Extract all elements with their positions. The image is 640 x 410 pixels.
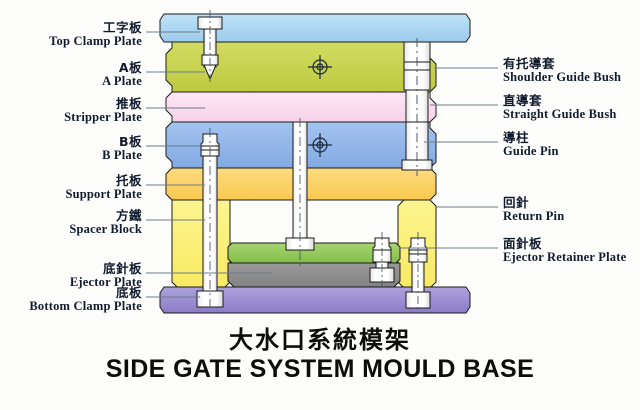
label-shoulder-guide-bush-en: Shoulder Guide Bush	[503, 71, 640, 85]
label-a-plate: A板 A Plate	[0, 61, 142, 88]
label-spacer-block-cn: 方鐵	[0, 209, 142, 223]
label-guide-pin: 導柱 Guide Pin	[503, 131, 640, 158]
label-guide-pin-cn: 導柱	[503, 131, 640, 145]
label-ejector-plate-cn: 底針板	[0, 262, 142, 276]
label-b-plate-en: B Plate	[0, 149, 142, 163]
plate-stripper	[166, 92, 436, 122]
label-return-pin: 回針 Return Pin	[503, 196, 640, 223]
label-bottom-clamp-plate: 底板 Bottom Clamp Plate	[0, 286, 142, 313]
title-block: 大水口系統模架 SIDE GATE SYSTEM MOULD BASE	[0, 320, 640, 384]
label-spacer-block-en: Spacer Block	[0, 223, 142, 237]
label-stripper-plate-en: Stripper Plate	[0, 111, 142, 125]
label-guide-pin-en: Guide Pin	[503, 145, 640, 159]
label-top-clamp-plate-en: Top Clamp Plate	[0, 35, 142, 49]
label-support-plate-cn: 托板	[0, 174, 142, 188]
label-return-pin-en: Return Pin	[503, 210, 640, 224]
label-shoulder-guide-bush-cn: 有托導套	[503, 57, 640, 71]
label-straight-guide-bush: 直導套 Straight Guide Bush	[503, 94, 640, 121]
label-bottom-clamp-plate-en: Bottom Clamp Plate	[0, 300, 142, 314]
label-b-plate-cn: B板	[0, 135, 142, 149]
label-stripper-plate: 推板 Stripper Plate	[0, 97, 142, 124]
label-ejector-retainer-plate-en: Ejector Retainer Plate	[503, 251, 640, 265]
title-chinese: 大水口系統模架	[0, 320, 640, 355]
title-english: SIDE GATE SYSTEM MOULD BASE	[0, 355, 640, 384]
label-top-clamp-plate-cn: 工字板	[0, 21, 142, 35]
label-straight-guide-bush-cn: 直導套	[503, 94, 640, 108]
label-b-plate: B板 B Plate	[0, 135, 142, 162]
label-bottom-clamp-plate-cn: 底板	[0, 286, 142, 300]
label-a-plate-en: A Plate	[0, 75, 142, 89]
label-return-pin-cn: 回針	[503, 196, 640, 210]
label-shoulder-guide-bush: 有托導套 Shoulder Guide Bush	[503, 57, 640, 84]
label-support-plate: 托板 Support Plate	[0, 174, 142, 201]
label-straight-guide-bush-en: Straight Guide Bush	[503, 108, 640, 122]
label-spacer-block: 方鐵 Spacer Block	[0, 209, 142, 236]
spacer-block-left	[172, 200, 230, 288]
label-top-clamp-plate: 工字板 Top Clamp Plate	[0, 21, 142, 48]
label-support-plate-en: Support Plate	[0, 188, 142, 202]
label-a-plate-cn: A板	[0, 61, 142, 75]
label-ejector-retainer-plate-cn: 面針板	[503, 237, 640, 251]
label-stripper-plate-cn: 推板	[0, 97, 142, 111]
label-ejector-retainer-plate: 面針板 Ejector Retainer Plate	[503, 237, 640, 264]
